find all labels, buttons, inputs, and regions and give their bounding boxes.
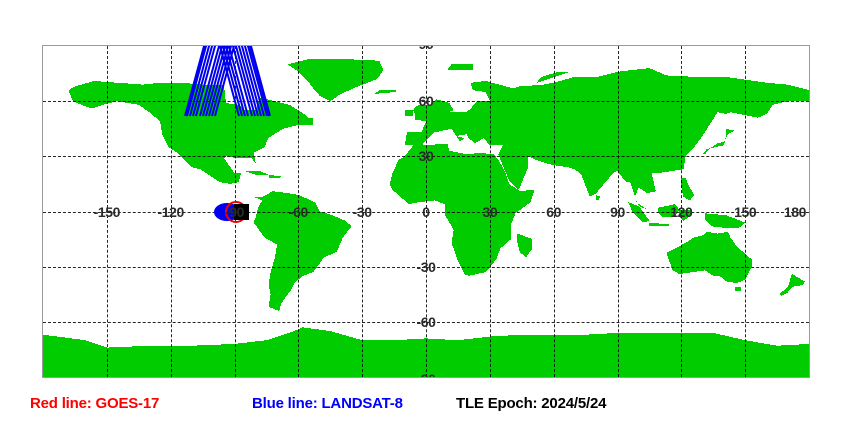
lon-label-90: 90 bbox=[610, 205, 625, 219]
lat-label--90: -90 bbox=[416, 372, 435, 377]
lat-label-60: 60 bbox=[419, 94, 434, 108]
lat-label--30: -30 bbox=[416, 260, 435, 274]
lon-label--60: -60 bbox=[289, 205, 308, 219]
legend-goes17: Red line: GOES-17 bbox=[30, 396, 159, 411]
lon-label-60: 60 bbox=[546, 205, 561, 219]
lon-label--150: -150 bbox=[94, 205, 120, 219]
lat-label--60: -60 bbox=[416, 315, 435, 329]
lon-label-120: 120 bbox=[670, 205, 692, 219]
satellite-track-map-page: 906030-30-60-90-150-120-90-60-3003060901… bbox=[0, 0, 850, 425]
lat-label-90: 90 bbox=[419, 46, 434, 51]
lon-label-0: 0 bbox=[422, 205, 429, 219]
lon-label-150: 150 bbox=[734, 205, 756, 219]
lat-label-30: 30 bbox=[419, 149, 434, 163]
lon-label--120: -120 bbox=[157, 205, 183, 219]
map-canvas: 906030-30-60-90-150-120-90-60-3003060901… bbox=[43, 46, 809, 377]
lon-label--30: -30 bbox=[353, 205, 372, 219]
lon-label--90: -90 bbox=[225, 205, 244, 219]
legend-landsat8: Blue line: LANDSAT-8 bbox=[252, 396, 403, 411]
lon-label-30: 30 bbox=[482, 205, 497, 219]
map-legend: Red line: GOES-17 Blue line: LANDSAT-8 T… bbox=[0, 392, 850, 420]
lon-label-180: 180 bbox=[784, 205, 806, 219]
legend-tle-epoch: TLE Epoch: 2024/5/24 bbox=[456, 396, 606, 411]
world-map-plot: 906030-30-60-90-150-120-90-60-3003060901… bbox=[42, 45, 810, 378]
